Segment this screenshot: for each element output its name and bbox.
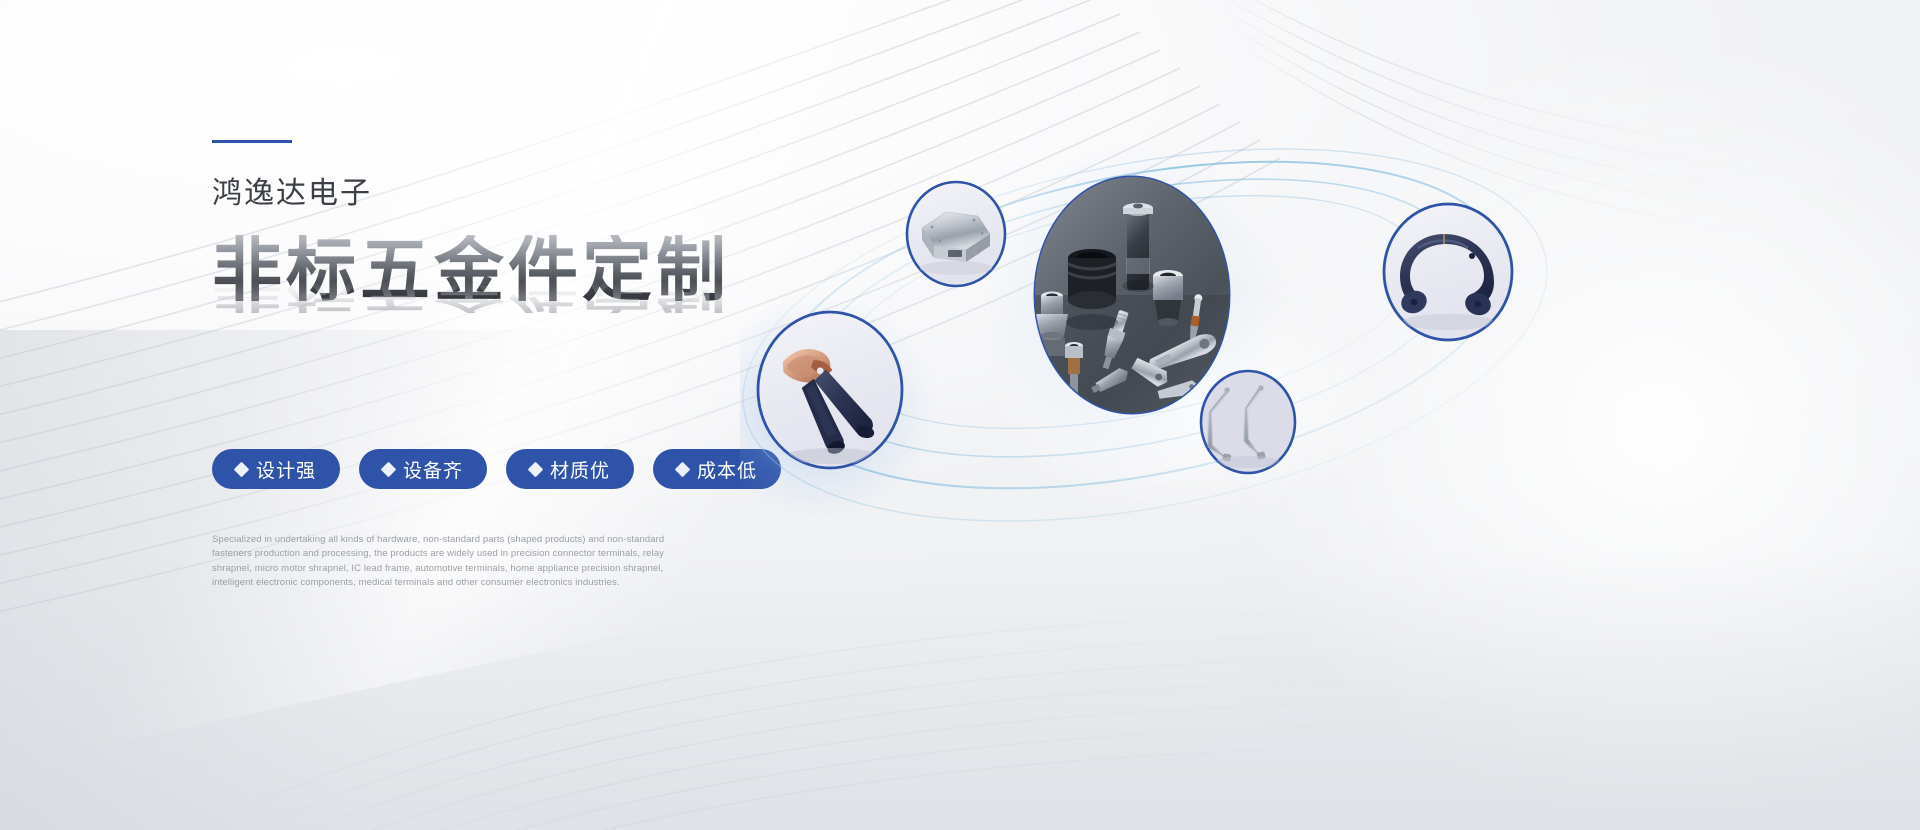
accent-divider — [212, 140, 292, 143]
bubble-battery-clamp-pair — [758, 312, 902, 468]
product-showcase-artwork — [740, 90, 1800, 650]
bubble-hardware-parts-collection — [1035, 177, 1229, 413]
feature-tag-equipment[interactable]: 设备齐 — [359, 449, 487, 489]
feature-tag-label: 设计强 — [256, 456, 316, 483]
bubble-metal-enclosure-box — [907, 182, 1005, 286]
diamond-icon — [528, 461, 544, 477]
hardware-parts-image — [1035, 177, 1229, 413]
diamond-icon — [675, 461, 691, 477]
diamond-icon — [234, 461, 250, 477]
feature-tag-material[interactable]: 材质优 — [506, 449, 634, 489]
diamond-icon — [381, 461, 397, 477]
bubble-bent-wire-pins — [1201, 371, 1295, 473]
hero-banner: 鸿逸达电子 非标五金件定制 非标五金件定制 设计强 设备齐 材质优 成本低 — [0, 0, 1920, 830]
feature-tag-design[interactable]: 设计强 — [212, 449, 340, 489]
feature-tag-label: 材质优 — [550, 456, 610, 483]
bubble-metal-bracket-clip — [1384, 204, 1512, 340]
hero-description: Specialized in undertaking all kinds of … — [212, 533, 682, 591]
feature-tag-label: 设备齐 — [403, 456, 463, 483]
